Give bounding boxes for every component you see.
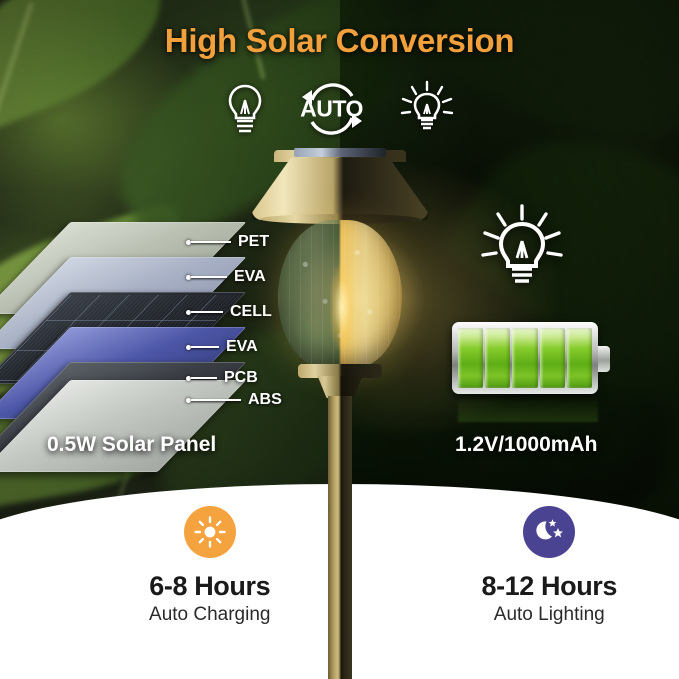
- battery-segment: [540, 328, 565, 388]
- battery-terminal: [598, 346, 610, 372]
- auto-mode-row: AUTO: [0, 80, 679, 138]
- sun-icon: [184, 506, 236, 558]
- leader-line: [191, 399, 241, 401]
- auto-label: AUTO: [300, 96, 363, 123]
- leader-line: [191, 276, 227, 278]
- lamp-glass-globe: [278, 220, 402, 368]
- battery-segment: [512, 328, 537, 388]
- lightbulb-glowing-icon: [479, 203, 565, 300]
- product-infographic: High Solar Conversion AUTO: [0, 0, 679, 679]
- leader-line: [191, 311, 223, 313]
- lightbulb-outline-icon: [224, 82, 266, 136]
- moon-stars-icon: [523, 506, 575, 558]
- battery-segment: [458, 328, 483, 388]
- lighting-subtitle: Auto Lighting: [494, 604, 605, 626]
- battery-reflection: [458, 396, 598, 422]
- lighting-hours: 8-12 Hours: [481, 571, 617, 602]
- battery-graphic: [452, 322, 610, 394]
- battery-body: [452, 322, 598, 394]
- battery-segment: [485, 328, 510, 388]
- lamp-globe-base: [298, 364, 382, 378]
- layer-label-eva-bottom: EVA: [186, 337, 258, 357]
- leader-line: [191, 346, 219, 348]
- layer-label-pcb: PCB: [186, 368, 258, 388]
- leader-line: [191, 377, 217, 379]
- battery-caption: 1.2V/1000mAh: [455, 433, 597, 457]
- lamp-shade: [252, 158, 428, 220]
- charging-hours: 6-8 Hours: [149, 571, 270, 602]
- globe-light-core: [331, 264, 353, 350]
- page-title: High Solar Conversion: [0, 22, 679, 60]
- lightbulb-glowing-icon: [398, 80, 456, 138]
- lamp-stake-pole-lower: [328, 483, 352, 679]
- feature-auto-lighting: 8-12 Hours Auto Lighting: [380, 484, 679, 679]
- lamp-neck: [312, 376, 368, 398]
- auto-cycle-icon: AUTO: [290, 82, 374, 136]
- charging-subtitle: Auto Charging: [149, 604, 270, 626]
- solar-panel-caption: 0.5W Solar Panel: [47, 433, 216, 457]
- lamp-solar-cell: [294, 148, 386, 157]
- feature-columns: 6-8 Hours Auto Charging 8-12 Hours Auto …: [40, 484, 679, 679]
- leader-line: [191, 241, 231, 243]
- battery-segment: [567, 328, 592, 388]
